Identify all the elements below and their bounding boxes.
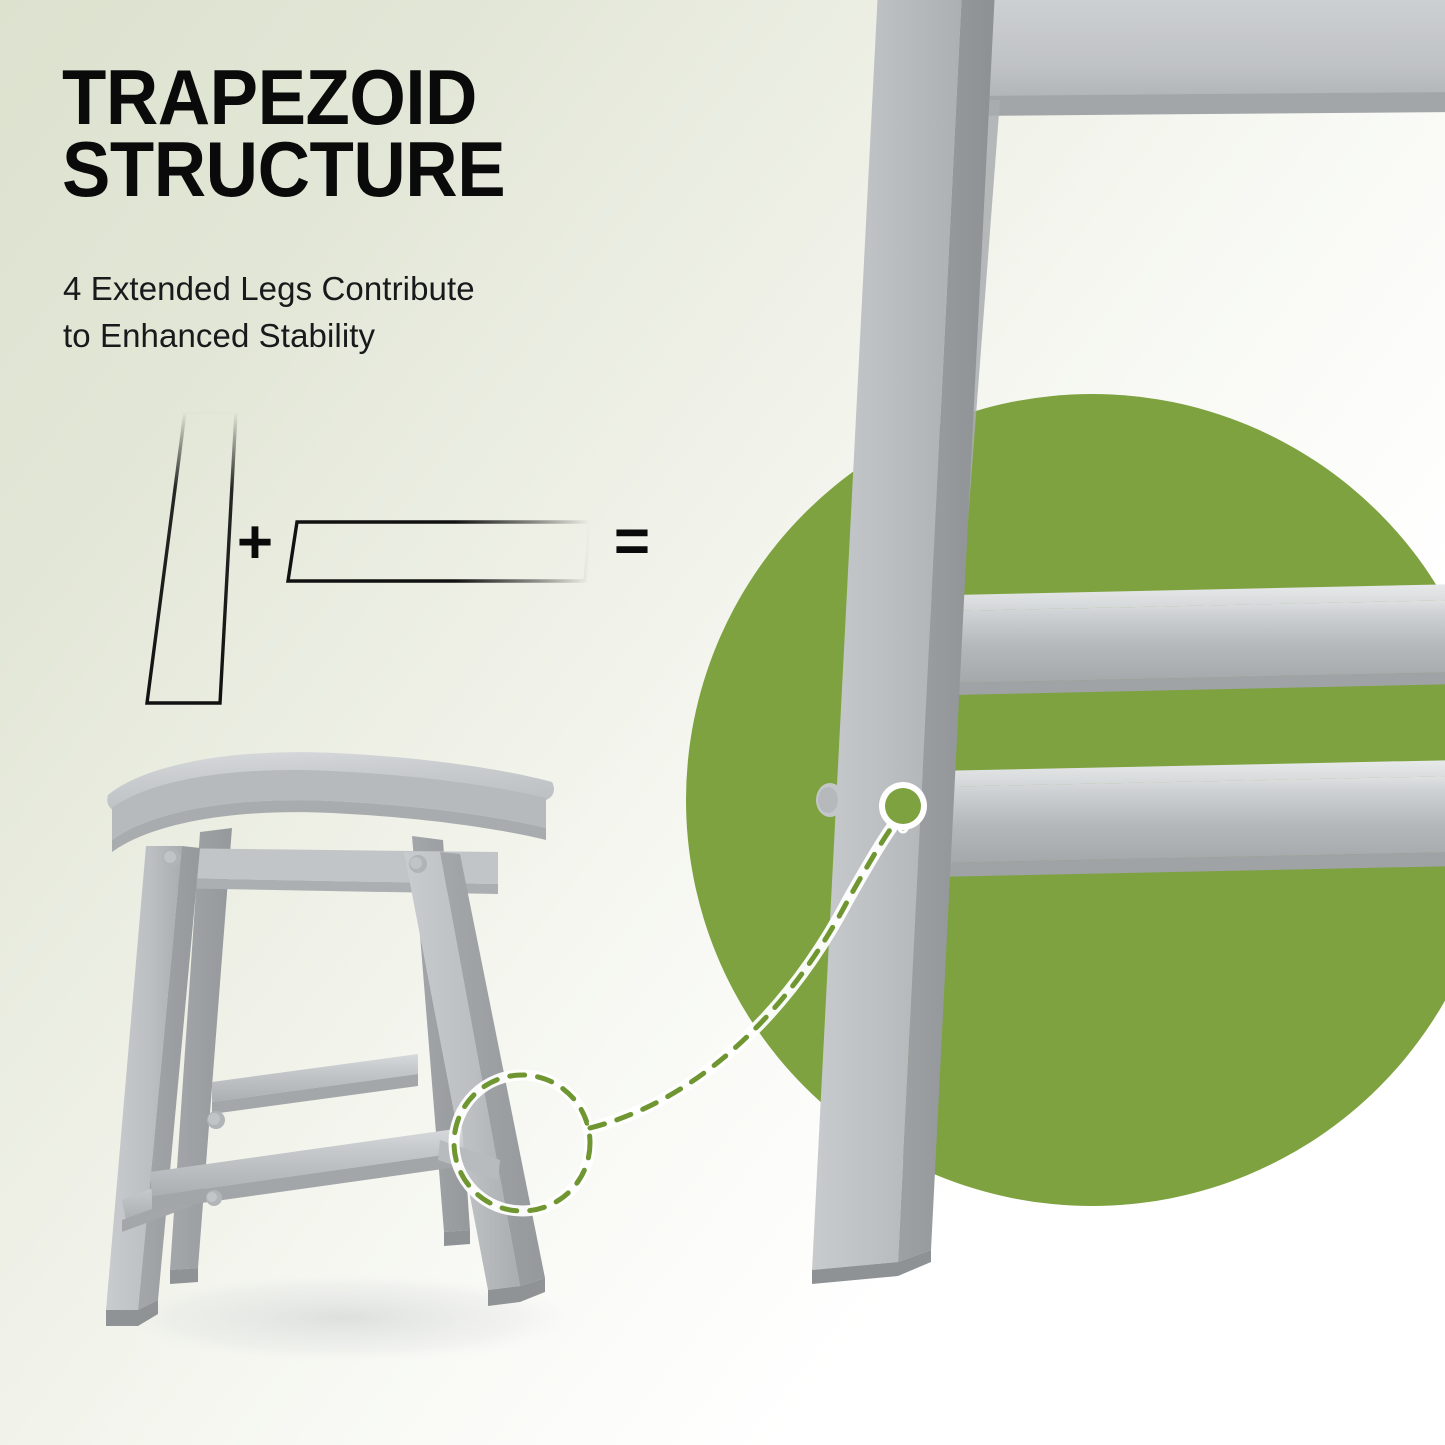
callout-curve-glow bbox=[590, 812, 903, 1128]
joint-callout-layer bbox=[0, 0, 1445, 1445]
page-title: TRAPEZOID STRUCTURE bbox=[62, 62, 657, 206]
infographic-canvas: + = TRAPEZOID STRUCTURE 4 Extended Legs … bbox=[0, 0, 1445, 1445]
callout-dashed-curve bbox=[590, 812, 903, 1128]
headline-line-2: STRUCTURE bbox=[62, 134, 657, 206]
subtitle-line-2: to Enhanced Stability bbox=[63, 313, 643, 360]
subtitle-line-1: 4 Extended Legs Contribute bbox=[63, 270, 475, 307]
page-subtitle: 4 Extended Legs Contribute to Enhanced S… bbox=[63, 266, 643, 360]
callout-marker-dot bbox=[885, 788, 921, 824]
